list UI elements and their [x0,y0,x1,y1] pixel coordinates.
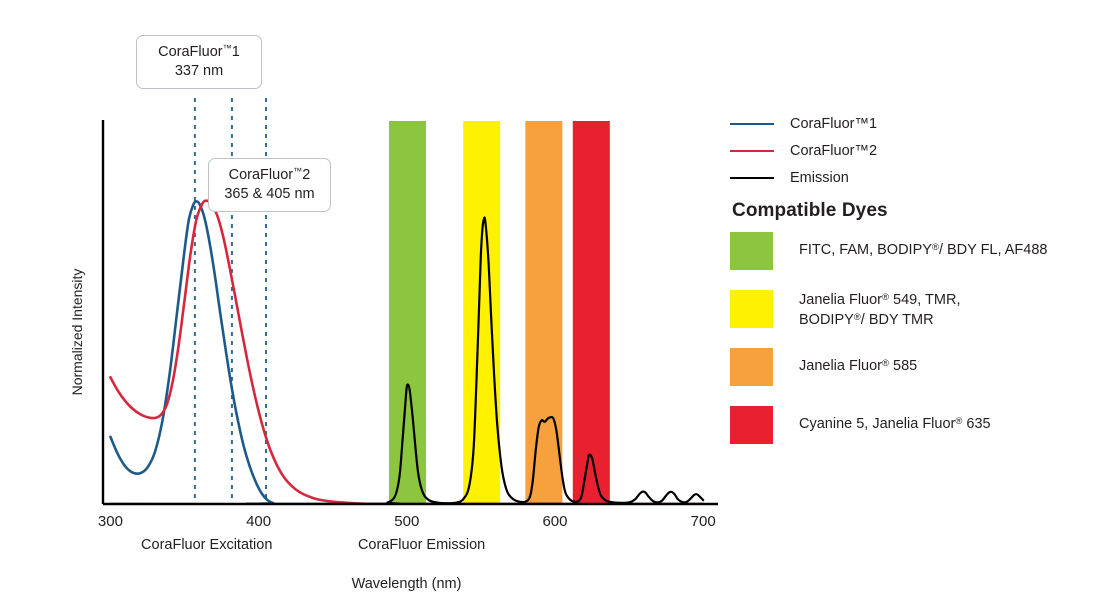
x-tick-label: 300 [98,513,123,530]
callout-1-index: 1 [232,44,240,60]
y-axis-title: Normalized Intensity [69,269,85,396]
callout-corafluor-2: CoraFluor™2 365 & 405 nm [208,158,331,212]
dye-item: Janelia Fluor® 549, TMR,BODIPY®/ BDY TMR [730,290,1110,330]
axis-section-label: CoraFluor Emission [358,537,485,553]
legend-item-label: Emission [790,170,849,186]
x-axis-title: Wavelength (nm) [352,576,462,592]
legend-item: Emission [730,164,1100,191]
compatible-dyes-list: FITC, FAM, BODIPY®/ BDY FL, AF488Janelia… [730,232,1110,464]
x-tick-label: 600 [542,513,567,530]
dye-color-swatch [730,406,773,444]
callout-1-line2: 337 nm [150,62,248,81]
green-band [389,121,426,504]
legend-line-swatch [730,123,774,125]
callout-corafluor-1: CoraFluor™1 337 nm [136,35,262,89]
dye-color-swatch [730,290,773,328]
orange-band [525,121,562,504]
registered-icon: ® [882,358,889,369]
legend-item-label: CoraFluor™1 [790,116,877,132]
x-tick-label: 500 [394,513,419,530]
x-tick-label: 700 [691,513,716,530]
legend-item: CoraFluor™1 [730,110,1100,137]
spectra-figure: 300400500600700CoraFluor ExcitationCoraF… [0,0,1110,612]
callout-2-index: 2 [302,167,310,183]
legend-item: CoraFluor™2 [730,137,1100,164]
registered-icon: ® [955,416,962,427]
dye-item-label: Janelia Fluor® 549, TMR,BODIPY®/ BDY TMR [799,290,960,330]
dye-item-label: Janelia Fluor® 585 [799,348,917,377]
chart-area: 300400500600700CoraFluor ExcitationCoraF… [0,0,730,612]
dye-item-label: FITC, FAM, BODIPY®/ BDY FL, AF488 [799,232,1047,261]
registered-icon: ® [932,242,939,253]
callout-2-line2: 365 & 405 nm [222,185,317,204]
dye-item: Janelia Fluor® 585 [730,348,1110,388]
callout-1-line1: CoraFluor™1 [150,43,248,62]
registered-icon: ® [854,312,861,323]
series-legend: CoraFluor™1CoraFluor™2Emission [730,110,1100,191]
axis-section-label: CoraFluor Excitation [141,537,272,553]
x-tick-label: 400 [246,513,271,530]
legend-line-swatch [730,177,774,179]
callout-2-line1: CoraFluor™2 [222,166,317,185]
dye-color-swatch [730,348,773,386]
red-band [573,121,610,504]
trademark-icon: ™ [223,43,232,53]
legend-item-label: CoraFluor™2 [790,143,877,159]
dye-color-swatch [730,232,773,270]
compatible-dyes-title: Compatible Dyes [732,200,888,222]
spectra-plot: 300400500600700CoraFluor ExcitationCoraF… [0,0,730,612]
trademark-icon: ™ [293,166,302,176]
dye-item: Cyanine 5, Janelia Fluor® 635 [730,406,1110,446]
callout-1-name: CoraFluor [158,44,222,60]
callout-2-name: CoraFluor [229,167,293,183]
dye-item-label: Cyanine 5, Janelia Fluor® 635 [799,406,991,435]
yellow-band [463,121,500,504]
registered-icon: ® [882,292,889,303]
dye-item: FITC, FAM, BODIPY®/ BDY FL, AF488 [730,232,1110,272]
right-panel: CoraFluor™1CoraFluor™2Emission Compatibl… [730,0,1110,612]
legend-line-swatch [730,150,774,152]
